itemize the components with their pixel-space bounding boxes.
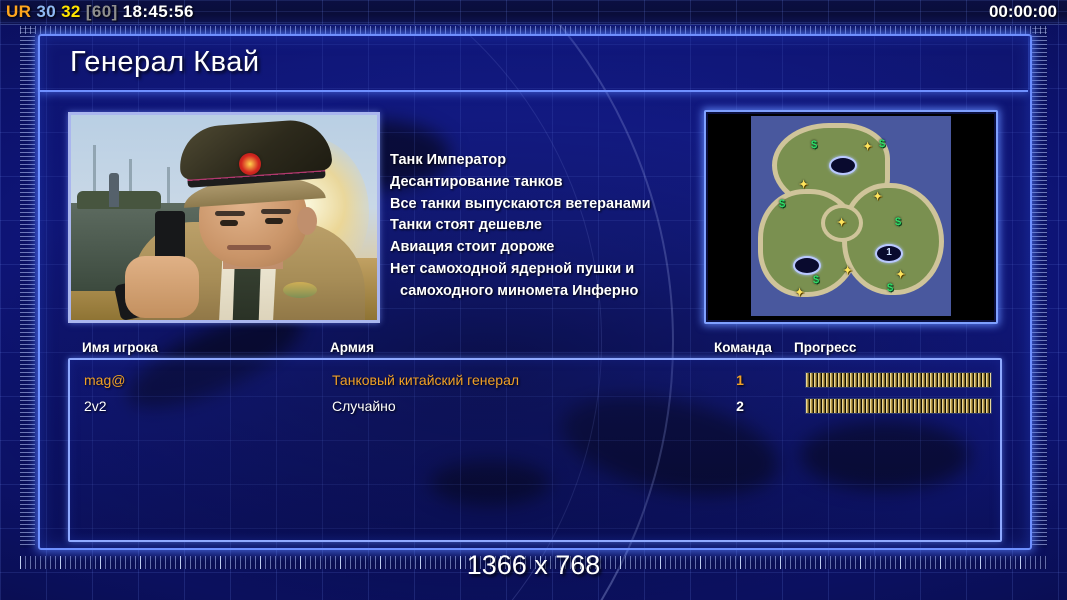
fps-cap-value: [60] <box>86 2 118 21</box>
player-name[interactable]: 2v2 <box>84 394 107 418</box>
session-timer: 18:45:56 <box>123 2 194 21</box>
ruler-top <box>20 26 1047 34</box>
oil-derrick-icon: $ <box>879 138 885 150</box>
oil-derrick-icon: $ <box>887 282 893 294</box>
resolution-label: 1366 x 768 <box>0 550 1067 581</box>
table-row[interactable]: mag@ Танковый китайский генерал 1 <box>70 368 1000 392</box>
supply-dock-icon: ✦ <box>896 268 905 281</box>
fps-value: 32 <box>61 2 81 21</box>
map-image: 1 $ $ $ $ $ $ ✦ ✦ ✦ ✦ ✦ ✦ ✦ <box>751 116 951 316</box>
bonus-line: самоходного миномета Инферно <box>390 281 730 303</box>
oil-derrick-icon: $ <box>779 198 785 210</box>
supply-dock-icon: ✦ <box>843 264 852 277</box>
player-table[interactable]: mag@ Танковый китайский генерал 1 2v2 Сл… <box>68 358 1002 542</box>
spawn-marker-1: 1 <box>875 244 903 263</box>
player-progress-bar <box>805 398 992 414</box>
bonus-line: Авиация стоит дороже <box>390 237 730 259</box>
ur-label: UR <box>6 2 31 21</box>
ruler-left <box>20 24 35 548</box>
spawn-marker <box>829 156 857 175</box>
supply-dock-icon: ✦ <box>873 190 882 203</box>
column-header-team: Команда <box>714 340 772 355</box>
column-header-player: Имя игрока <box>82 340 158 355</box>
column-header-progress: Прогресс <box>794 340 856 355</box>
network-stats: UR3032[60]18:45:56 <box>6 2 199 22</box>
oil-derrick-icon: $ <box>813 274 819 286</box>
player-name[interactable]: mag@ <box>84 368 125 392</box>
ping-value: 30 <box>36 2 56 21</box>
bonus-line: Все танки выпускаются ветеранами <box>390 194 730 216</box>
table-row[interactable]: 2v2 Случайно 2 <box>70 394 1000 418</box>
map-preview: 1 $ $ $ $ $ $ ✦ ✦ ✦ ✦ ✦ ✦ ✦ <box>704 110 998 324</box>
player-army[interactable]: Танковый китайский генерал <box>332 368 519 392</box>
general-bonus-list: Танк Император Десантирование танков Все… <box>390 150 730 302</box>
supply-dock-icon: ✦ <box>799 178 808 191</box>
bonus-line: Танки стоят дешевле <box>390 215 730 237</box>
bonus-line: Танк Император <box>390 150 730 172</box>
bonus-line: Десантирование танков <box>390 172 730 194</box>
bonus-line: Нет самоходной ядерной пушки и <box>390 259 730 281</box>
player-team[interactable]: 1 <box>725 368 755 392</box>
oil-derrick-icon: $ <box>895 216 901 228</box>
game-clock: 00:00:00 <box>989 2 1057 22</box>
player-table-header: Имя игрока Армия Команда Прогресс <box>82 340 998 358</box>
panel-title-bar: Генерал Квай <box>38 34 1028 92</box>
supply-dock-icon: ✦ <box>863 140 872 153</box>
spawn-marker <box>793 256 821 275</box>
general-portrait <box>68 112 380 323</box>
player-progress-bar <box>805 372 992 388</box>
game-lobby-screen: UR3032[60]18:45:56 00:00:00 Генерал Квай <box>0 0 1067 600</box>
ruler-right <box>1032 24 1047 548</box>
page-title: Генерал Квай <box>70 46 260 79</box>
supply-dock-icon: ✦ <box>837 216 846 229</box>
general-info-row: Танк Император Десантирование танков Все… <box>68 110 998 328</box>
supply-dock-icon: ✦ <box>795 286 804 299</box>
column-header-army: Армия <box>330 340 374 355</box>
player-army[interactable]: Случайно <box>332 394 396 418</box>
oil-derrick-icon: $ <box>811 139 817 151</box>
player-team[interactable]: 2 <box>725 394 755 418</box>
status-bar: UR3032[60]18:45:56 00:00:00 <box>0 0 1067 25</box>
